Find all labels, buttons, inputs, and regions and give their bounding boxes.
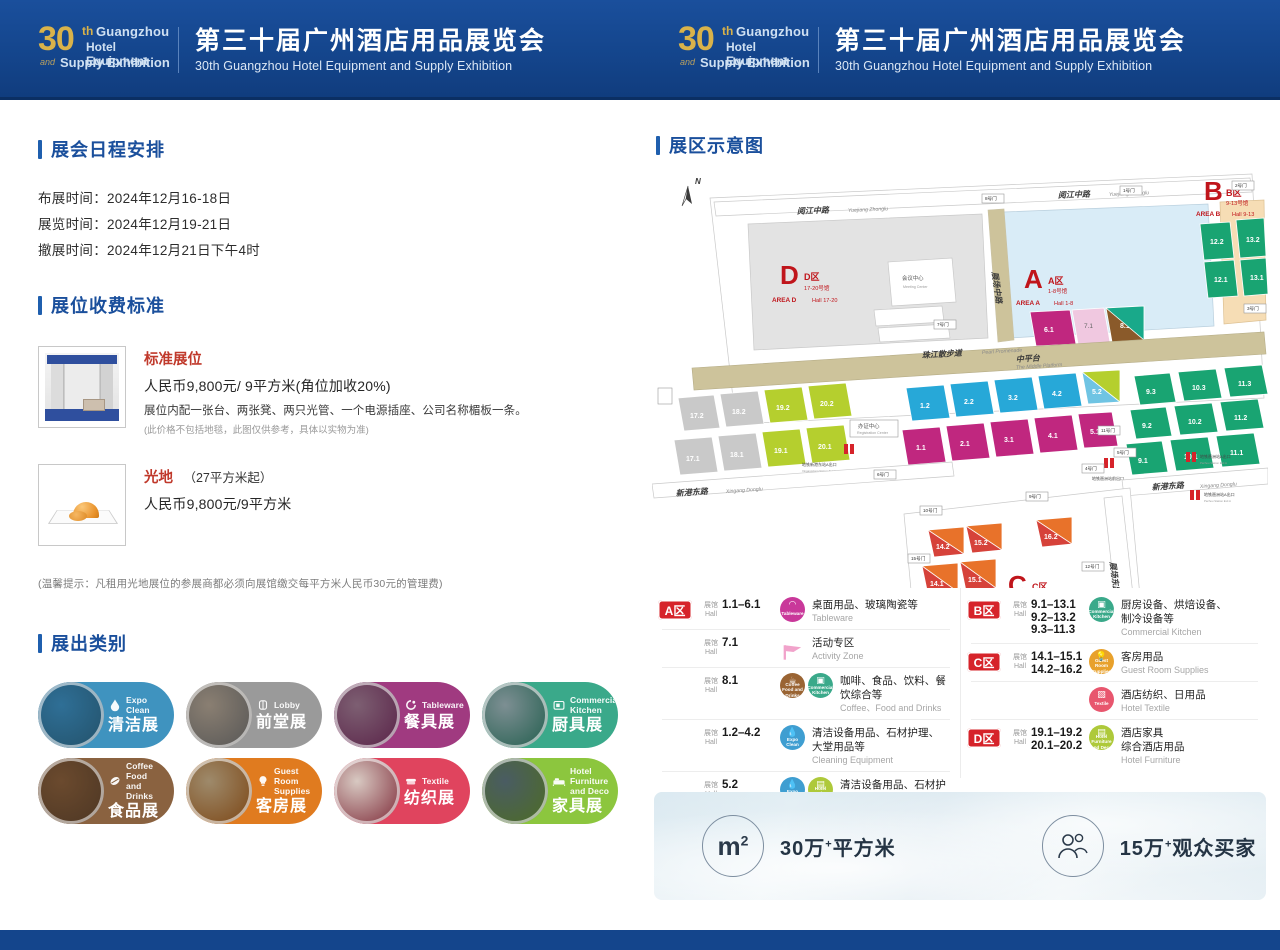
commercial-kitchen-icon: ▣Commercial Kitchen	[1089, 597, 1114, 622]
legend-hall-number-line: 14.2–16.2	[1031, 664, 1087, 677]
category-photo	[38, 758, 104, 824]
bulb-icon	[256, 774, 270, 788]
svg-text:4.2: 4.2	[1052, 391, 1062, 398]
svg-text:10.3: 10.3	[1192, 385, 1206, 392]
area-a-letter: A	[1024, 264, 1043, 294]
hotel-furniture-icon: ▤Hotel Furniture and Deco	[1089, 725, 1114, 750]
category-text: HotelFurnitureand Deco家具展	[548, 766, 618, 816]
svg-text:Registration Center: Registration Center	[857, 431, 889, 435]
svg-text:中平台: 中平台	[1016, 353, 1042, 364]
category-cn-label: 客房展	[256, 798, 316, 816]
schedule-title-text: 展会日程安排	[51, 136, 165, 162]
fee-note: (此价格不包括地毯，此图仅供参考，具体以实物为准)	[144, 422, 527, 436]
logo-and-2: and	[680, 57, 695, 67]
stat-area-value: 30万+平方米	[780, 832, 896, 861]
header-title-cn-2: 第三十届广州酒店用品展览会	[835, 27, 1186, 56]
category-text: Tableware餐具展	[400, 698, 470, 732]
legend-hall-numbers: 5.2	[722, 779, 778, 792]
svg-text:7号门: 7号门	[937, 321, 949, 328]
stat-area-unit: 平方米	[833, 838, 896, 860]
svg-text:15.1: 15.1	[968, 577, 982, 584]
logo-number-2: 30	[678, 20, 714, 59]
legend-row: 展馆Hall8.1☕Coffee Food and Drinks▣Commerc…	[658, 668, 954, 719]
header-logo-block-left: 30 th Guangzhou Hotel Equipment and Supp…	[0, 0, 640, 100]
area-d-letter: D	[780, 260, 799, 290]
svg-text:1.1: 1.1	[916, 445, 926, 452]
legend-column-right: B区展馆Hall9.1–13.19.2–13.29.3–11.3▣Commerc…	[960, 588, 1268, 778]
area-tag-spacer	[658, 728, 692, 748]
area-tag-B区: B区	[967, 600, 1001, 620]
svg-text:地铁琶洲站前出口: 地铁琶洲站前出口	[1092, 475, 1124, 481]
legend-text: 咖啡、食品、饮料、餐饮综合等Coffee、Food and Drinks	[840, 673, 954, 714]
svg-text:9.2: 9.2	[1142, 423, 1152, 430]
hotel-textile-icon: ▧Textile	[1089, 687, 1114, 712]
section-bar-icon	[656, 136, 660, 155]
hall-label: 展馆Hall	[700, 639, 722, 657]
kitchen-icon	[552, 698, 566, 712]
category-en-line: Food	[126, 771, 168, 781]
category-en-line: Tableware	[422, 700, 464, 710]
tableware-icon: ◠Tableware	[780, 597, 805, 622]
schedule-row: 布展时间：2024年12月16-18日	[38, 186, 260, 212]
category-en-line: Furniture	[570, 776, 609, 786]
category-en-row: HotelFurnitureand Deco	[552, 766, 612, 796]
svg-text:8号门: 8号门	[985, 195, 997, 202]
category-cn-label: 清洁展	[108, 717, 168, 735]
category-en-line: Kitchen	[570, 705, 618, 715]
legend-en-line: Commercial Kitchen	[1121, 626, 1262, 638]
category-photo	[334, 758, 400, 824]
svg-text:11.2: 11.2	[1234, 415, 1247, 422]
fee-item-standard-booth: 标准展位 人民币9,800元/ 9平方米(角位加收20%) 展位内配一张台、两张…	[38, 346, 618, 436]
droplet-icon	[108, 698, 122, 712]
svg-text:12.2: 12.2	[1210, 239, 1224, 246]
header-title-block-2: 第三十届广州酒店用品展览会 30th Guangzhou Hotel Equip…	[835, 27, 1186, 74]
right-column: 展区示意图 .rd{fill:#cdc39b;} .rdl{fill:#ffff…	[640, 100, 1280, 930]
legend-cn-line: 综合酒店用品	[1121, 740, 1262, 754]
activity-flag-icon	[780, 635, 805, 660]
category-en-row: ExpoClean	[108, 695, 168, 715]
legend-hall-numbers: 1.1–6.1	[722, 599, 778, 612]
legend-icons: 💧Expo Clean	[780, 725, 805, 750]
svg-text:2号门: 2号门	[1235, 182, 1247, 189]
legend-row: A区展馆Hall1.1–6.1◠Tableware桌面用品、玻璃陶瓷等Table…	[658, 592, 954, 629]
category-card-6[interactable]: Textile纺织展	[334, 758, 470, 824]
logo-line3: Supply Exhibition	[60, 55, 170, 70]
legend-text: 客房用品Guest Room Supplies	[1121, 649, 1262, 676]
category-cn-label: 前堂展	[256, 714, 316, 732]
coffee-bean-icon	[108, 774, 122, 788]
legend-en-line: Coffee、Food and Drinks	[840, 702, 954, 714]
svg-text:10号门: 10号门	[923, 507, 938, 514]
category-text: CommercialKitchen厨具展	[548, 695, 618, 735]
legend-icons	[780, 635, 805, 660]
legend-icons: 💡Guest Room Supplies	[1089, 649, 1114, 674]
stat-area-plus: +	[825, 838, 832, 850]
svg-text:4号门: 4号门	[1085, 465, 1097, 472]
guest-room-icon: 💡Guest Room Supplies	[1089, 649, 1114, 674]
legend-text: 清洁设备用品、石材护理、大堂用品等Cleaning Equipment	[812, 725, 954, 766]
legend-en-line: Cleaning Equipment	[812, 754, 954, 766]
category-card-0[interactable]: ExpoClean清洁展	[38, 682, 174, 748]
anniversary-logo-icon: 30 th Guangzhou Hotel Equipment and Supp…	[38, 22, 170, 78]
category-en-lines: Tableware	[422, 700, 464, 710]
area-a-halls-en: Hall 1-8	[1054, 301, 1073, 307]
legend-icons: ▣Commercial Kitchen	[1089, 597, 1114, 622]
stat-visitors: 15万+观众买家	[1042, 815, 1257, 877]
svg-text:6.1: 6.1	[1044, 327, 1054, 334]
category-card-7[interactable]: HotelFurnitureand Deco家具展	[482, 758, 618, 824]
svg-text:15.2: 15.2	[974, 540, 988, 547]
category-cn-label: 餐具展	[404, 714, 464, 732]
category-photo	[38, 682, 104, 748]
gate-marker: 7号门	[934, 320, 956, 329]
category-en-lines: CommercialKitchen	[570, 695, 618, 715]
schedule-row: 展览时间：2024年12月19-21日	[38, 212, 260, 238]
footer-bar	[0, 930, 1280, 950]
gate-marker: 12号门	[1082, 562, 1104, 571]
hall-label: 展馆Hall	[700, 601, 722, 619]
stat-area-number: 30万	[780, 838, 825, 860]
registration-center: 办证中心 Registration Center	[850, 420, 898, 437]
svg-text:14.1: 14.1	[930, 581, 944, 588]
schedule-row: 撤展时间：2024年12月21日下午4时	[38, 238, 260, 264]
meeting-center-en: Meeting Center	[903, 285, 928, 289]
category-text: CoffeeFoodand Drinks食品展	[104, 761, 174, 821]
categories-title-text: 展出类别	[51, 630, 127, 656]
svg-text:19.2: 19.2	[776, 405, 790, 412]
svg-text:13.2: 13.2	[1246, 237, 1260, 244]
page-header: 30 th Guangzhou Hotel Equipment and Supp…	[0, 0, 1280, 100]
logo-city-2: Guangzhou	[736, 24, 809, 39]
legend-cn-line: 酒店家具	[1121, 726, 1262, 740]
svg-text:3.1: 3.1	[1004, 437, 1014, 444]
fees-title-text: 展位收费标准	[51, 292, 165, 318]
svg-text:15号门: 15号门	[911, 555, 926, 562]
svg-text:9号门: 9号门	[1029, 493, 1041, 500]
category-cn-label: 食品展	[108, 803, 168, 821]
svg-text:地铁琶洲站A出口: 地铁琶洲站A出口	[1204, 491, 1235, 497]
svg-text:1号门: 1号门	[1123, 187, 1135, 194]
gate-marker: 1号门	[1120, 186, 1142, 195]
stat-visitors-number: 15万	[1120, 838, 1165, 860]
logo-number: 30	[38, 20, 74, 59]
gate-marker: 10号门	[920, 506, 942, 515]
category-photo	[186, 682, 252, 748]
hall-label: 展馆Hall	[1009, 601, 1031, 619]
header-logo-block-right: 30 th Guangzhou Hotel Equipment and Supp…	[640, 0, 1280, 100]
category-en-line: Guest Room	[274, 766, 316, 786]
svg-text:5号门: 5号门	[1117, 449, 1129, 456]
area-tag-spacer	[658, 676, 692, 696]
category-en-row: Guest RoomSupplies	[256, 766, 316, 796]
fee-name-sub: （27平方米起）	[183, 471, 272, 485]
area-b-halls-en: Hall 9-13	[1232, 212, 1254, 218]
area-b-halls: 9-13号馆	[1226, 199, 1249, 207]
fee-name: 光地	[144, 466, 173, 487]
category-card-4[interactable]: CoffeeFoodand Drinks食品展	[38, 758, 174, 824]
gate-marker: 4号门	[1082, 464, 1104, 473]
area-d-halls: 17-20号馆	[804, 284, 830, 292]
svg-text:9.1: 9.1	[1138, 458, 1148, 465]
legend-en-line: Activity Zone	[812, 650, 954, 662]
legend-hall-number-line: 9.1–13.1	[1031, 599, 1087, 612]
legend-icons: ☕Coffee Food and Drinks▣Commercial Kitch…	[780, 673, 833, 698]
legend-cn-line: 厨房设备、烘焙设备、	[1121, 598, 1262, 612]
svg-text:17.2: 17.2	[690, 413, 704, 420]
category-en-row: Lobby	[256, 698, 316, 712]
area-b-en: AREA B	[1196, 211, 1221, 218]
hall-label: 展馆Hall	[1009, 729, 1031, 747]
legend-cn-line: 桌面用品、玻璃陶瓷等	[812, 598, 954, 612]
legend-text: 活动专区Activity Zone	[812, 635, 954, 662]
svg-text:18.1: 18.1	[730, 452, 744, 459]
coffee-icon: ☕Coffee Food and Drinks	[780, 673, 805, 698]
categories-title: 展出类别	[38, 630, 618, 656]
svg-text:9.3: 9.3	[1146, 389, 1156, 396]
legend-hall-numbers: 9.1–13.19.2–13.29.3–11.3	[1031, 599, 1087, 637]
svg-text:10.2: 10.2	[1188, 419, 1202, 426]
svg-text:19.1: 19.1	[774, 448, 788, 455]
legend-cn-line: 咖啡、食品、饮料、餐饮综合等	[840, 674, 954, 702]
svg-text:11.1: 11.1	[1230, 450, 1243, 457]
gate-marker: 11号门	[1098, 426, 1120, 435]
legend-row: D区展馆Hall19.1–19.220.1–20.2▤Hotel Furnitu…	[967, 720, 1262, 771]
category-en-lines: Lobby	[274, 700, 300, 710]
area-d-en: AREA D	[772, 297, 797, 304]
area-d-cn: D区	[804, 272, 820, 282]
svg-text:17.1: 17.1	[686, 456, 700, 463]
fee-price: 人民币9,800元/9平方米	[144, 494, 292, 514]
category-text: Textile纺织展	[400, 774, 470, 808]
standard-booth-image	[38, 346, 126, 428]
category-en-row: Textile	[404, 774, 464, 788]
svg-text:3号门: 3号门	[1247, 305, 1259, 312]
area-a-halls: 1-8号馆	[1048, 287, 1068, 295]
category-en-line: and Drinks	[126, 781, 168, 801]
legend-hall-number-line: 14.1–15.1	[1031, 651, 1087, 664]
logo-ordinal-suffix: th	[82, 24, 93, 38]
category-en-lines: CoffeeFoodand Drinks	[126, 761, 168, 801]
svg-text:13.1: 13.1	[1250, 275, 1264, 282]
header-title-en: 30th Guangzhou Hotel Equipment and Suppl…	[195, 59, 546, 73]
hall-label: 展馆Hall	[700, 729, 722, 747]
area-a-cn: A区	[1048, 276, 1064, 286]
svg-text:20.1: 20.1	[818, 444, 832, 451]
legend-cn-line: 大堂用品等	[812, 740, 954, 754]
svg-text:N: N	[695, 177, 701, 186]
area-tag-A区: A区	[658, 600, 692, 620]
fee-name: 标准展位	[144, 348, 202, 369]
bed-icon	[552, 774, 566, 788]
area-b-letter: B	[1204, 176, 1223, 206]
svg-text:16.2: 16.2	[1044, 534, 1058, 541]
svg-text:1.2: 1.2	[920, 403, 930, 410]
svg-text:14.2: 14.2	[936, 544, 950, 551]
fee-price: 人民币9,800元/ 9平方米(角位加收20%)	[144, 376, 527, 396]
section-bar-icon	[38, 634, 42, 653]
svg-text:Pazhou Station Exit A: Pazhou Station Exit A	[1200, 461, 1227, 465]
gate-marker: 8号门	[982, 194, 1004, 203]
gate-marker: 3号门	[1244, 304, 1266, 313]
legend-icons: ▧Textile	[1089, 687, 1114, 712]
category-card-3[interactable]: CommercialKitchen厨具展	[482, 682, 618, 748]
fee-item-raw-space: 光地 （27平方米起） 人民币9,800元/9平方米	[38, 464, 618, 546]
plate-icon	[404, 698, 418, 712]
stat-visitors-unit: 观众买家	[1172, 838, 1256, 860]
brochure-page: 30 th Guangzhou Hotel Equipment and Supp…	[0, 0, 1280, 950]
category-en-line: Commercial	[570, 695, 618, 705]
raw-space-image	[38, 464, 126, 546]
standard-booth-text: 标准展位 人民币9,800元/ 9平方米(角位加收20%) 展位内配一张台、两张…	[144, 346, 527, 436]
fees-title: 展位收费标准	[38, 292, 618, 318]
commercial-kitchen-icon: ▣Commercial Kitchen	[808, 673, 833, 698]
category-en-lines: Textile	[422, 776, 449, 786]
hall-block-group-b: 9.3 10.3 11.3 9.2 10.2 11.2 9.1 10.1	[1126, 365, 1268, 475]
legend-hall-numbers: 8.1	[722, 675, 778, 688]
section-bar-icon	[38, 140, 42, 159]
legend-hall-numbers: 1.2–4.2	[722, 727, 778, 740]
category-en-line: Coffee	[126, 761, 168, 771]
area-tag-spacer	[658, 638, 692, 658]
gate-marker: 2号门	[1232, 181, 1254, 190]
category-photo	[482, 682, 548, 748]
gate-marker: 5号门	[1114, 448, 1136, 457]
gate-marker: 9号门	[1026, 492, 1048, 501]
svg-text:2.1: 2.1	[960, 441, 970, 448]
legend-text: 桌面用品、玻璃陶瓷等Tableware	[812, 597, 954, 624]
visitors-icon	[1042, 815, 1104, 877]
legend-en-line: Tableware	[812, 612, 954, 624]
legend-hall-numbers: 19.1–19.220.1–20.2	[1031, 727, 1087, 752]
categories-section: 展出类别 ExpoClean清洁展Lobby前堂展Tableware餐具展Com…	[38, 630, 618, 824]
category-photo	[186, 758, 252, 824]
map-title: 展区示意图	[656, 132, 764, 158]
schedule-title: 展会日程安排	[38, 136, 260, 162]
stat-area: m2 30万+平方米	[702, 815, 896, 877]
category-en-line: Lobby	[274, 700, 300, 710]
fee-desc: 展位内配一张台、两张凳、两只光管、一个电源插座、公司名称楣板一条。	[144, 402, 527, 418]
legend-cn-line: 制冷设备等	[1121, 612, 1262, 626]
left-column: 展会日程安排 布展时间：2024年12月16-18日 展览时间：2024年12月…	[0, 100, 640, 930]
category-en-row: Tableware	[404, 698, 464, 712]
logo-ordinal-suffix-2: th	[722, 24, 733, 38]
legend-row: B区展馆Hall9.1–13.19.2–13.29.3–11.3▣Commerc…	[967, 592, 1262, 643]
legend-icons: ▤Hotel Furniture and Deco	[1089, 725, 1114, 750]
legend-text: 酒店家具综合酒店用品Hotel Furniture	[1121, 725, 1262, 766]
legend-row: C区展馆Hall14.1–15.114.2–16.2💡Guest Room Su…	[967, 644, 1262, 681]
section-bar-icon	[38, 296, 42, 315]
legend-en-line: Hotel Furniture	[1121, 754, 1262, 766]
svg-text:18.2: 18.2	[732, 409, 746, 416]
category-card-5[interactable]: Guest RoomSupplies客房展	[186, 758, 322, 824]
header-title-cn: 第三十届广州酒店用品展览会	[195, 27, 546, 56]
svg-text:阅江中路: 阅江中路	[797, 206, 830, 216]
legend-column-left: A区展馆Hall1.1–6.1◠Tableware桌面用品、玻璃陶瓷等Table…	[652, 588, 960, 778]
category-card-1[interactable]: Lobby前堂展	[186, 682, 322, 748]
logo-city: Guangzhou	[96, 24, 169, 39]
gate-marker: 6号门	[874, 470, 896, 479]
svg-text:5.2: 5.2	[1092, 389, 1102, 396]
legend-text: 厨房设备、烘焙设备、制冷设备等Commercial Kitchen	[1121, 597, 1262, 638]
legend-icons: ◠Tableware	[780, 597, 805, 622]
logo-line3-2: Supply Exhibition	[700, 55, 810, 70]
category-card-2[interactable]: Tableware餐具展	[334, 682, 470, 748]
legend-cn-line: 清洁设备用品、石材护理、	[812, 726, 954, 740]
legend-hall-number-line: 9.2–13.2	[1031, 612, 1087, 625]
category-photo	[334, 682, 400, 748]
category-en-line: Expo	[126, 695, 150, 705]
stat-visitors-value: 15万+观众买家	[1120, 832, 1257, 861]
svg-text:地铁琶洲站A出口: 地铁琶洲站A出口	[1200, 453, 1231, 459]
raw-space-text: 光地 （27平方米起） 人民币9,800元/9平方米	[144, 464, 292, 546]
category-cn-label: 纺织展	[404, 790, 464, 808]
stats-banner: m2 30万+平方米 15万+观众买家	[654, 792, 1266, 900]
square-meter-glyph: m2	[718, 831, 749, 862]
legend-row: 展馆Hall7.1活动专区Activity Zone	[658, 630, 954, 667]
category-en-line: Hotel	[570, 766, 609, 776]
hall-label: 展馆Hall	[1009, 653, 1031, 671]
svg-text:Pazhou Station Exit A: Pazhou Station Exit A	[1204, 499, 1231, 503]
legend-hall-numbers: 14.1–15.114.2–16.2	[1031, 651, 1087, 676]
header-title-block: 第三十届广州酒店用品展览会 30th Guangzhou Hotel Equip…	[195, 27, 546, 74]
legend-row: 展馆Hall1.2–4.2💧Expo Clean清洁设备用品、石材护理、大堂用品…	[658, 720, 954, 771]
svg-text:办证中心: 办证中心	[858, 422, 880, 430]
legend-hall-number-line: 20.1–20.2	[1031, 740, 1087, 753]
svg-text:3.2: 3.2	[1008, 395, 1018, 402]
header-divider-2	[818, 27, 819, 73]
category-en-lines: ExpoClean	[126, 695, 150, 715]
legend-cn-line: 酒店纺织、日用品	[1121, 688, 1262, 702]
area-tag-C区: C区	[967, 652, 1001, 672]
category-en-line: and Deco	[570, 786, 609, 796]
svg-text:12.1: 12.1	[1214, 277, 1228, 284]
header-title-en-2: 30th Guangzhou Hotel Equipment and Suppl…	[835, 59, 1186, 73]
area-tag-spacer	[967, 690, 1001, 710]
svg-text:11号门: 11号门	[1101, 427, 1115, 434]
category-text: Lobby前堂展	[252, 698, 322, 732]
legend-text: 酒店纺织、日用品Hotel Textile	[1121, 687, 1262, 714]
legend-row: ▧Textile酒店纺织、日用品Hotel Textile	[967, 682, 1262, 719]
category-photo	[482, 758, 548, 824]
area-a-en: AREA A	[1016, 300, 1040, 307]
category-text: ExpoClean清洁展	[104, 695, 174, 735]
hall-label: 展馆Hall	[700, 677, 722, 695]
area-tag-D区: D区	[967, 728, 1001, 748]
map-title-text: 展区示意图	[669, 132, 764, 158]
legend-en-line: Guest Room Supplies	[1121, 664, 1262, 676]
category-cn-label: 厨具展	[552, 717, 618, 735]
category-en-lines: HotelFurnitureand Deco	[570, 766, 609, 796]
expo-clean-icon: 💧Expo Clean	[780, 725, 805, 750]
svg-text:11.3: 11.3	[1238, 381, 1251, 388]
schedule-section: 展会日程安排 布展时间：2024年12月16-18日 展览时间：2024年12月…	[38, 136, 260, 264]
category-en-row: CommercialKitchen	[552, 695, 618, 715]
legend-hall-numbers: 7.1	[722, 637, 778, 650]
logo-and: and	[40, 57, 55, 67]
legend-hall-number-line: 9.3–11.3	[1031, 624, 1087, 637]
categories-grid: ExpoClean清洁展Lobby前堂展Tableware餐具展Commerci…	[38, 682, 618, 824]
header-divider	[178, 27, 179, 73]
svg-text:2.2: 2.2	[964, 399, 974, 406]
luggage-cart-icon	[256, 698, 270, 712]
area-d-halls-en: Hall 17-20	[812, 298, 838, 304]
category-en-lines: Guest RoomSupplies	[274, 766, 316, 796]
registration-center-2	[658, 388, 672, 404]
svg-text:地铁新港东站A出口: 地铁新港东站A出口	[802, 461, 837, 467]
legend-cn-line: 活动专区	[812, 636, 954, 650]
svg-text:20.2: 20.2	[820, 401, 834, 408]
